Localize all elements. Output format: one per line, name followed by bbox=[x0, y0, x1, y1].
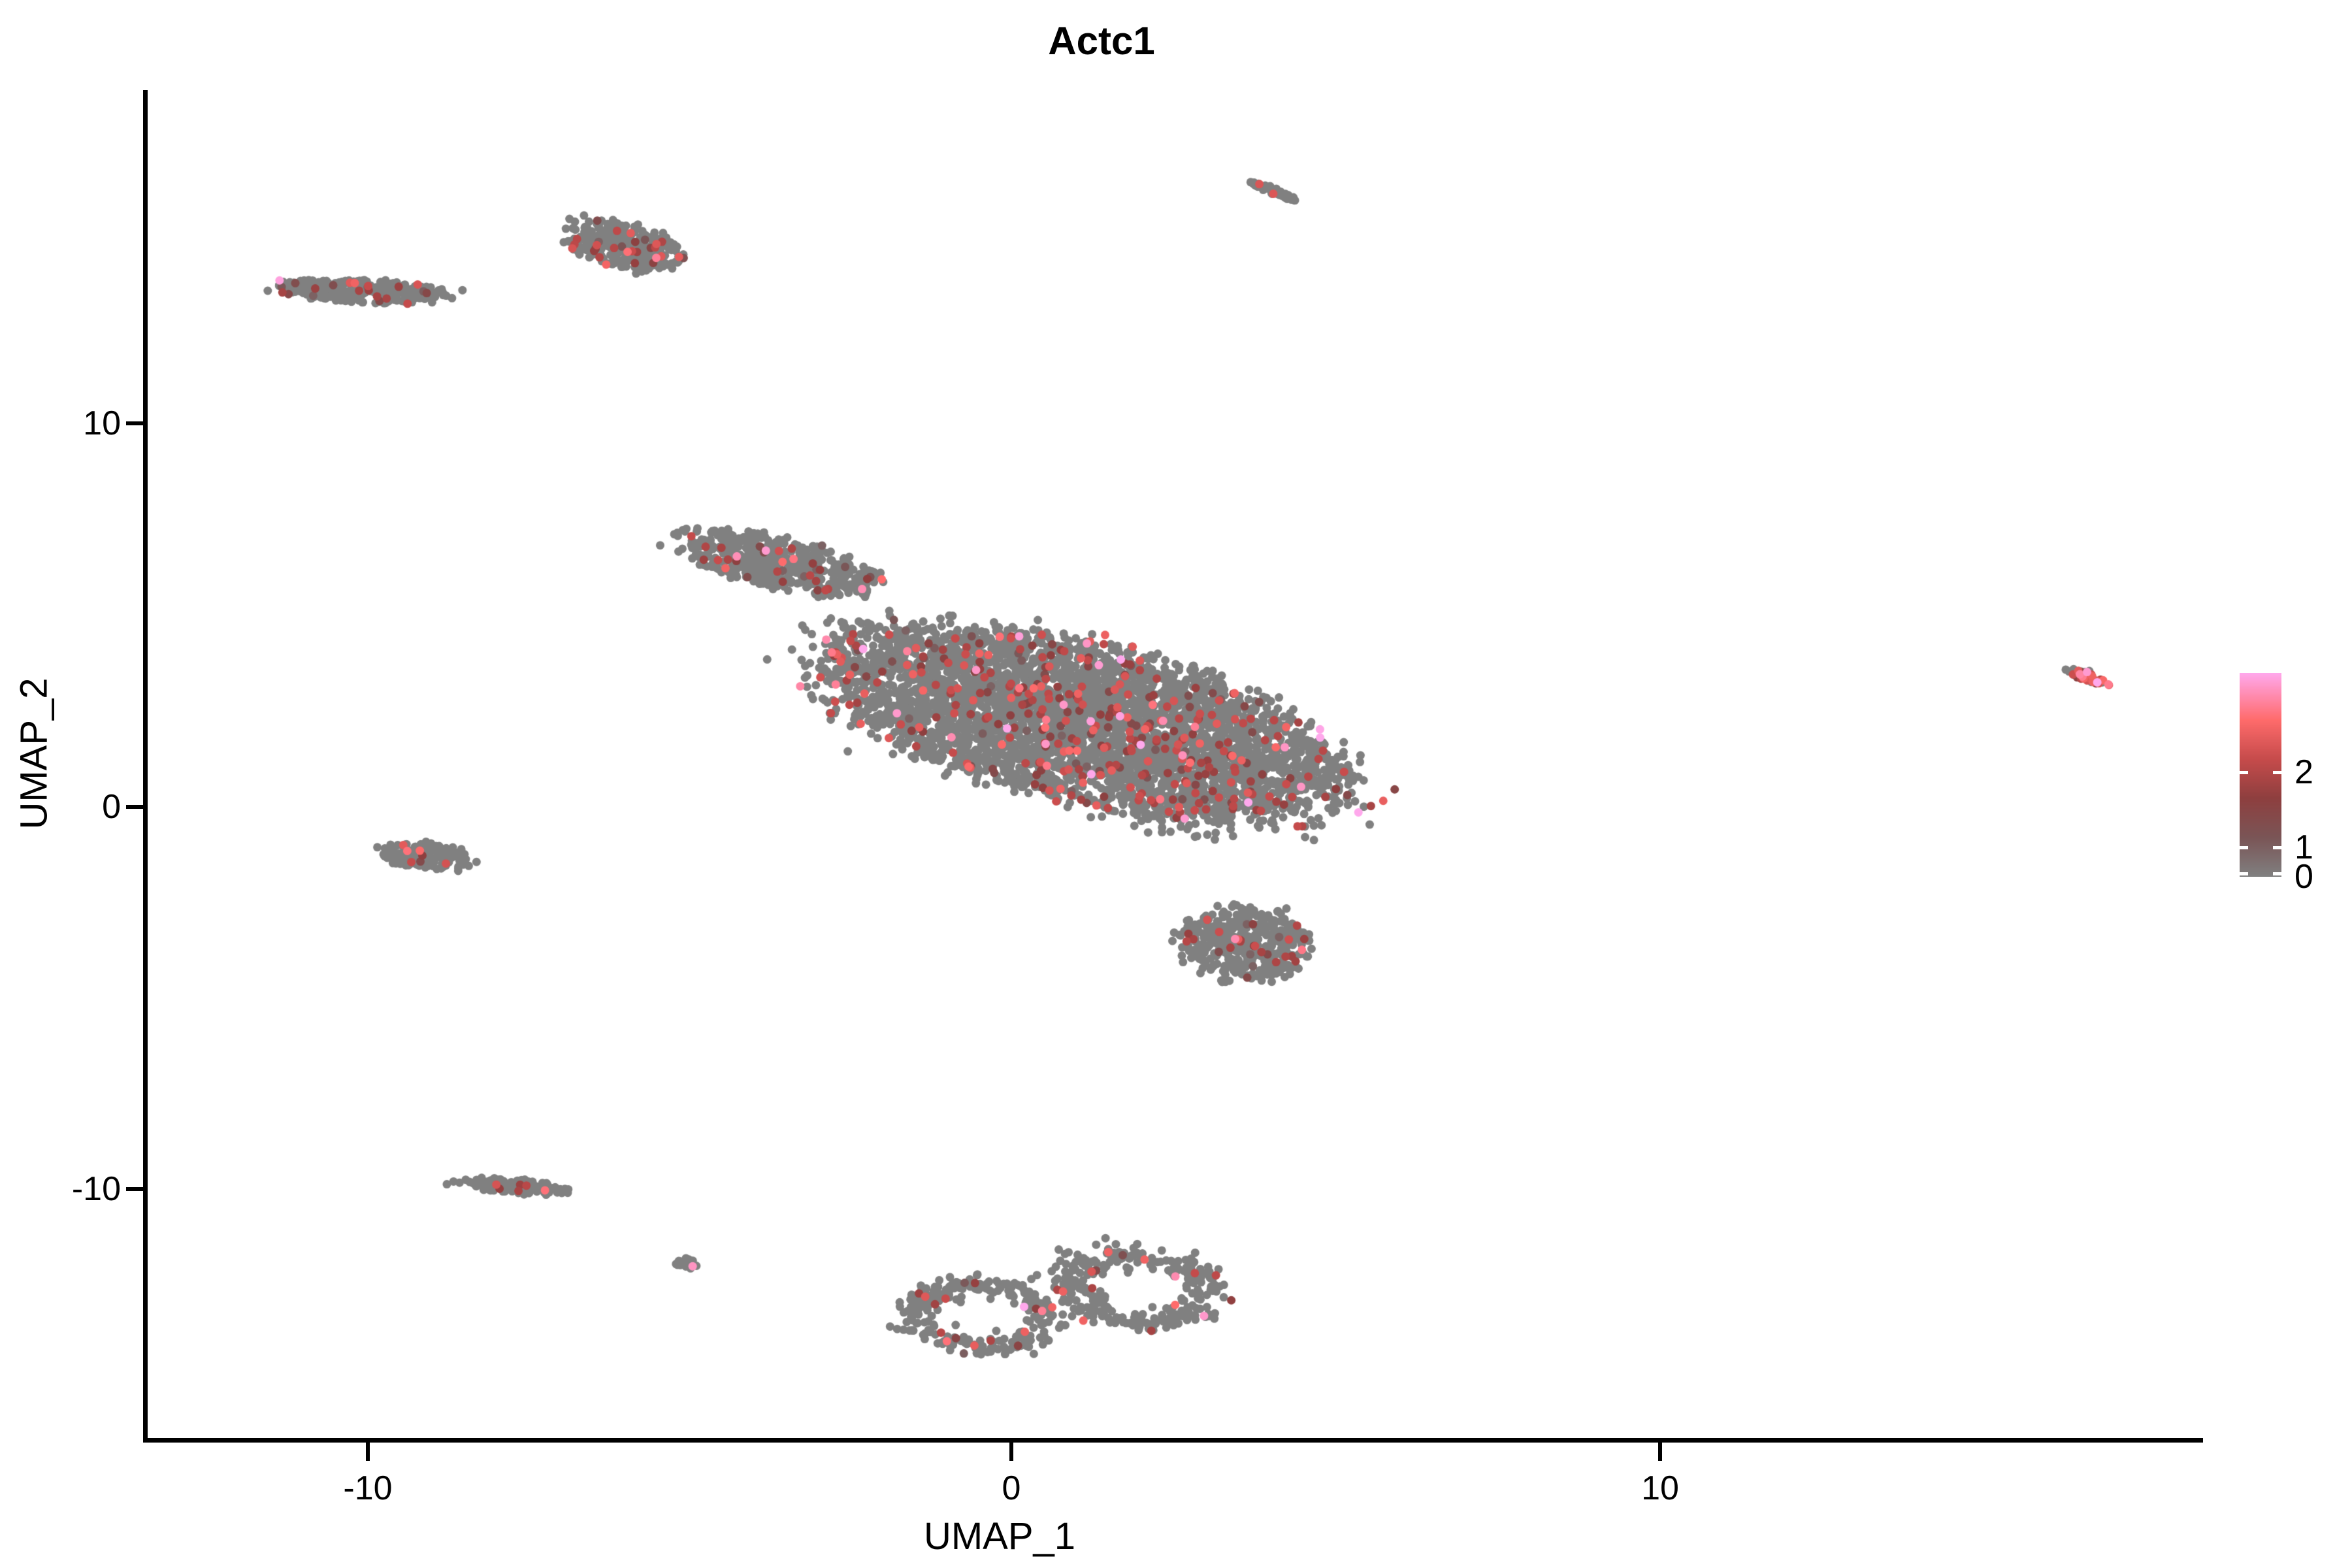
colorbar-legend: 2 1 0 bbox=[2240, 673, 2281, 877]
colorbar-tick-left-0 bbox=[2240, 872, 2248, 875]
y-tick-label-0: 0 bbox=[102, 787, 121, 826]
colorbar-tick-left-2 bbox=[2240, 771, 2248, 774]
colorbar-tick-right-2 bbox=[2273, 771, 2281, 774]
y-tick-label-10: 10 bbox=[83, 404, 121, 443]
y-tick-mark-10 bbox=[126, 421, 144, 425]
umap-feature-plot: Actc1 10 0 -10 -10 0 10 UMAP_2 UMAP_1 2 … bbox=[0, 0, 2352, 1568]
x-tick-mark-neg10 bbox=[366, 1443, 370, 1461]
x-tick-label-0: 0 bbox=[1002, 1469, 1021, 1508]
y-tick-mark-0 bbox=[126, 805, 144, 809]
x-tick-mark-0 bbox=[1009, 1443, 1013, 1461]
x-tick-label-neg10: -10 bbox=[343, 1469, 392, 1508]
scatter-canvas bbox=[0, 0, 2352, 1568]
x-axis-line bbox=[143, 1438, 2203, 1443]
x-axis-title: UMAP_1 bbox=[830, 1514, 1169, 1558]
colorbar-label-0: 0 bbox=[2295, 857, 2313, 896]
y-tick-label-neg10: -10 bbox=[72, 1169, 121, 1209]
plot-area bbox=[0, 0, 2352, 1568]
colorbar-tick-right-0 bbox=[2273, 872, 2281, 875]
y-tick-mark-neg10 bbox=[126, 1187, 144, 1191]
colorbar-tick-right-1 bbox=[2273, 846, 2281, 849]
colorbar-tick-left-1 bbox=[2240, 846, 2248, 849]
y-axis-line bbox=[143, 90, 148, 1443]
x-tick-mark-10 bbox=[1658, 1443, 1662, 1461]
y-axis-title: UMAP_2 bbox=[12, 584, 56, 924]
colorbar-label-2: 2 bbox=[2295, 753, 2313, 792]
x-tick-label-10: 10 bbox=[1641, 1469, 1679, 1508]
